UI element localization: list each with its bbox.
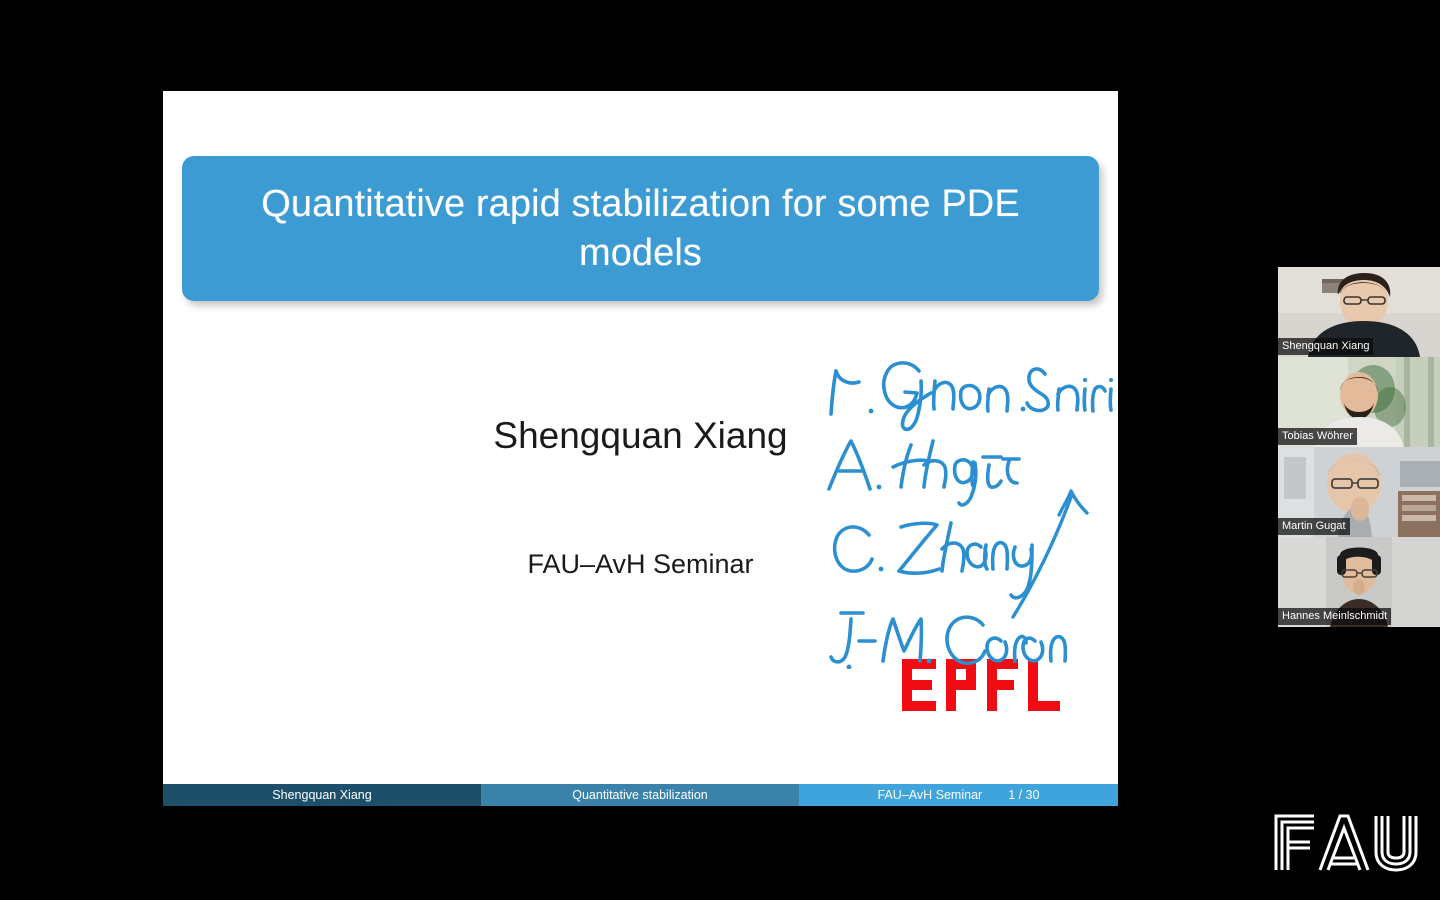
screen: Quantitative rapid stabilization for som… (0, 0, 1440, 900)
participant-video-tiles[interactable]: Shengquan Xiang Tobias Wöhrer (1278, 267, 1440, 628)
footer-page-number: 1 / 30 (1008, 788, 1039, 802)
participant-name: Martin Gugat (1278, 518, 1350, 535)
slide-footer: Shengquan Xiang Quantitative stabilizati… (163, 784, 1118, 806)
participant-name: Tobias Wöhrer (1278, 428, 1357, 445)
participant-tile[interactable]: Martin Gugat (1278, 447, 1440, 537)
epfl-logo (902, 655, 1070, 715)
fau-logo (1272, 812, 1424, 874)
presentation-slide[interactable]: Quantitative rapid stabilization for som… (163, 91, 1118, 806)
slide-title-banner: Quantitative rapid stabilization for som… (182, 156, 1099, 301)
slide-seminar-name: FAU–AvH Seminar (163, 549, 1118, 580)
slide-author: Shengquan Xiang (163, 415, 1118, 457)
participant-tile[interactable]: Shengquan Xiang (1278, 267, 1440, 357)
footer-author: Shengquan Xiang (163, 784, 481, 806)
footer-right-group: FAU–AvH Seminar 1 / 30 (799, 784, 1118, 806)
participant-tile[interactable]: Hannes Meinlschmidt (1278, 537, 1440, 627)
participant-name: Hannes Meinlschmidt (1278, 608, 1391, 625)
handwritten-annotation-layer (823, 319, 1118, 669)
participant-name: Shengquan Xiang (1278, 338, 1373, 355)
participant-tile[interactable]: Tobias Wöhrer (1278, 357, 1440, 447)
footer-seminar: FAU–AvH Seminar (878, 788, 983, 802)
slide-title: Quantitative rapid stabilization for som… (182, 180, 1099, 277)
footer-topic: Quantitative stabilization (481, 784, 799, 806)
